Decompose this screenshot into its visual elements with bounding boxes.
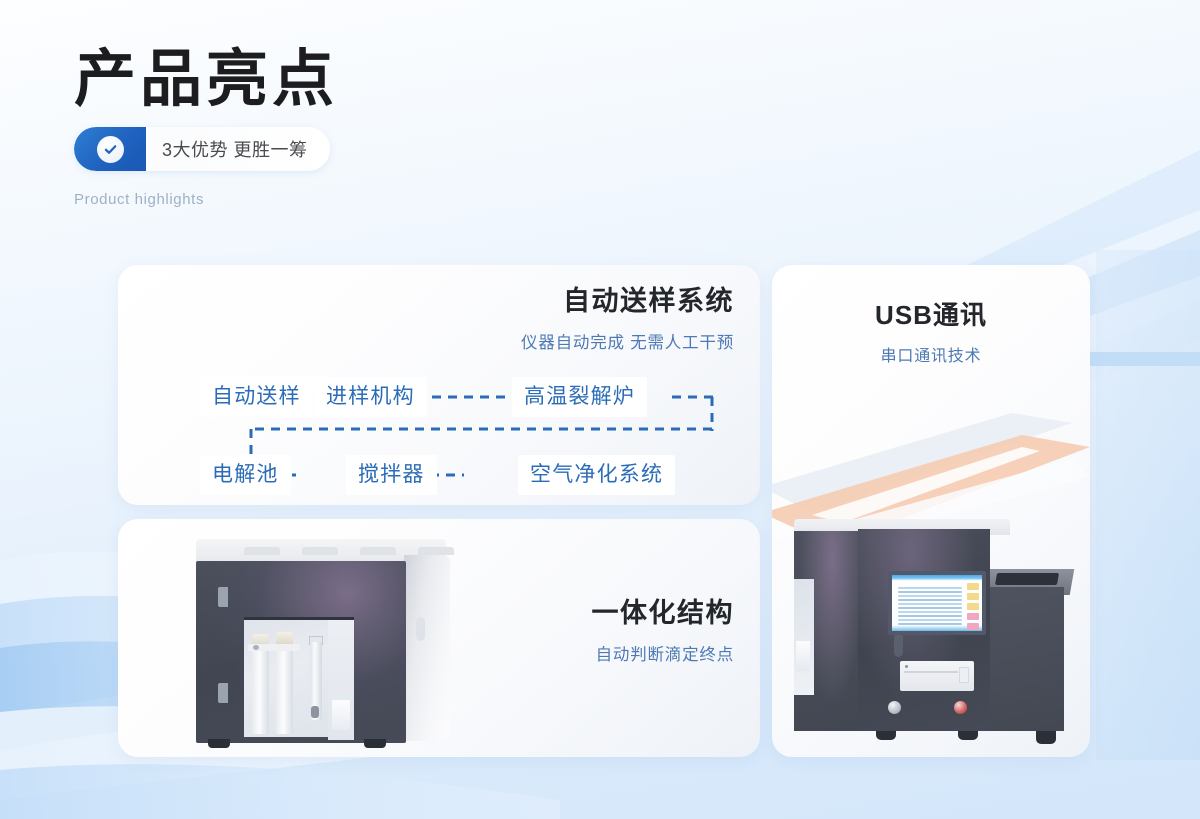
gas-port-silver [888, 701, 901, 714]
card-usb-heading: USB通讯 串口通讯技术 [772, 299, 1090, 366]
instrument2-foot-left [876, 731, 896, 740]
printer-indicator [905, 665, 908, 668]
syringe-cap-right [276, 632, 293, 644]
instrument-photo-front [166, 529, 456, 757]
printer-panel [900, 661, 974, 691]
instrument2-main-panel [858, 529, 990, 731]
instrument2-left-window [794, 579, 814, 695]
instrument2-foot-right [1036, 731, 1056, 744]
card-flow-heading: 自动送样系统 仪器自动完成 无需人工干预 [521, 285, 734, 353]
lcd-data-rows [898, 587, 962, 625]
page-subtitle-english: Product highlights [74, 191, 594, 208]
card-photo-subtitle: 自动判断滴定终点 [592, 641, 735, 665]
instrument-viewing-window [244, 617, 354, 737]
card-flow-subtitle: 仪器自动完成 无需人工干预 [521, 329, 734, 353]
instrument2-foot-mid [958, 731, 978, 740]
flow-tag-electrolytic-cell[interactable]: 电解池 [200, 455, 291, 495]
page-header: 产品亮点 3大优势 更胜一筹 Product highlights [74, 44, 594, 208]
instrument-handle [416, 617, 425, 641]
instrument-reagent-cup [332, 700, 350, 730]
instrument2-left-cup [796, 641, 810, 671]
badge-icon-container [74, 127, 146, 171]
instrument-foot-right [364, 739, 386, 748]
card-usb-title: USB通讯 [772, 299, 1090, 332]
lcd-side-buttons [967, 583, 979, 630]
syringe-left [252, 650, 269, 734]
card-auto-sampling-system: 自动送样系统 仪器自动完成 无需人工干预 自动送样 进样机构 [118, 265, 760, 505]
advantage-badge: 3大优势 更胜一筹 [74, 127, 330, 171]
lcd-screen-bezel [888, 571, 986, 635]
card-integrated-structure: 一体化结构 自动判断滴定终点 [118, 519, 760, 757]
card-flow-title: 自动送样系统 [521, 285, 734, 319]
gas-port-red [954, 701, 967, 714]
printer-release-tab[interactable] [959, 667, 969, 683]
flow-tag-auto-sampling[interactable]: 自动送样 [200, 377, 313, 417]
check-circle-icon [97, 136, 124, 163]
flowmeter-float [311, 706, 319, 718]
instrument2-left-module [794, 531, 858, 731]
page-title: 产品亮点 [74, 44, 594, 113]
card-usb-subtitle: 串口通讯技术 [772, 342, 1090, 366]
flow-tag-air-purification[interactable]: 空气净化系统 [518, 455, 675, 495]
instrument-dark-body [196, 561, 406, 743]
instrument2-door-handle [894, 633, 903, 657]
printer-paper-slot [904, 671, 958, 673]
instrument2-right-tray-slot [995, 573, 1059, 585]
instrument-hinge-bottom [218, 683, 228, 703]
card-usb-communication: USB通讯 串口通讯技术 [772, 265, 1090, 757]
instrument-foot-left [208, 739, 230, 748]
instrument-photo-with-lcd [780, 513, 1090, 757]
instrument2-right-module [990, 587, 1064, 731]
syringe-knob [253, 645, 259, 650]
flow-tag-injection-mechanism[interactable]: 进样机构 [314, 377, 427, 417]
card-photo-heading: 一体化结构 自动判断滴定终点 [592, 597, 735, 665]
flow-tag-stirrer[interactable]: 搅拌器 [346, 455, 437, 495]
instrument-top-bumps [244, 547, 454, 555]
badge-label: 3大优势 更胜一筹 [146, 127, 330, 171]
instrument-right-panel [404, 555, 450, 741]
flow-tag-pyrolysis-furnace[interactable]: 高温裂解炉 [512, 377, 647, 417]
card-photo-title: 一体化结构 [592, 597, 735, 631]
process-flow-diagram: 自动送样 进样机构 高温裂解炉 电解池 搅拌器 空气净化系统 [118, 373, 760, 503]
lcd-screen[interactable] [892, 575, 982, 631]
instrument-hinge-top [218, 587, 228, 607]
syringe-right [276, 650, 293, 734]
